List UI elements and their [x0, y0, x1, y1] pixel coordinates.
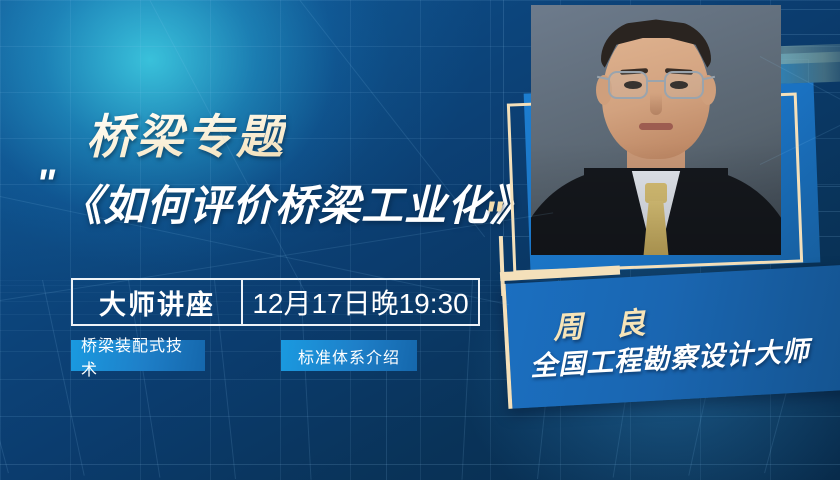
poster-title: 桥梁专题: [86, 98, 286, 167]
photo-vignette: [531, 5, 781, 255]
speaker-nameplate: 周 良 全国工程勘察设计大师: [502, 265, 840, 409]
speaker-photo: [531, 5, 781, 255]
lecture-type-label: 大师讲座: [73, 280, 243, 324]
topic-tag-list: 桥梁装配式技术 标准体系介绍: [71, 340, 417, 371]
topic-tag: 标准体系介绍: [281, 340, 417, 371]
headline-block: 桥梁专题 " 《如何评价桥梁工业化》 ": [0, 0, 520, 480]
lecture-datetime: 12月17日晚19:30: [243, 280, 478, 324]
topic-tag: 桥梁装配式技术: [71, 340, 205, 371]
poster-canvas: 桥梁专题 " 《如何评价桥梁工业化》 " 大师讲座 12月17日晚19:30 桥…: [0, 0, 840, 480]
quote-open-mark: ": [36, 164, 51, 204]
